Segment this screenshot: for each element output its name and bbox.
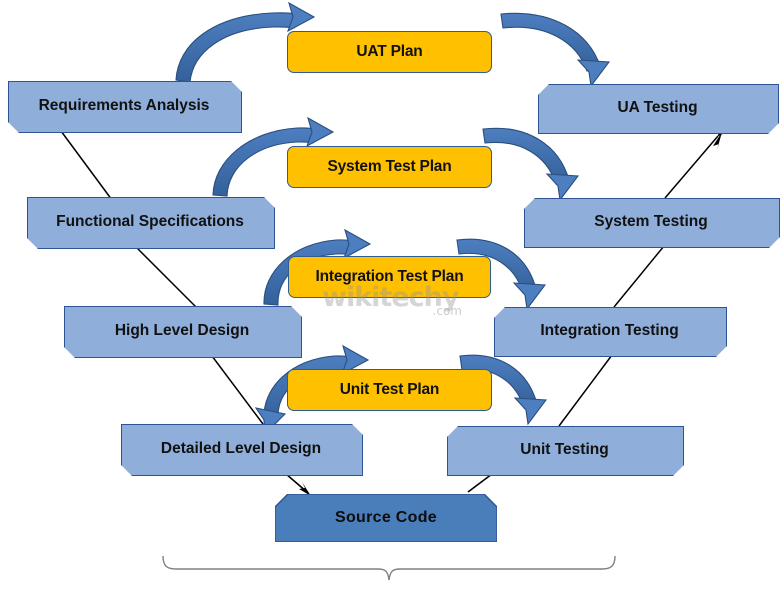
- unit-test-plan-label: Unit Test Plan: [340, 382, 439, 398]
- source-code-box[interactable]: Source Code: [275, 494, 497, 542]
- integration-testing-label: Integration Testing: [494, 307, 725, 355]
- connector-func-to-hld: [136, 247, 198, 309]
- connector-hld-to-dld: [212, 356, 263, 424]
- source-code-label: Source Code: [275, 494, 497, 542]
- connector-req-to-func: [61, 131, 112, 200]
- phase-detailed-level-design[interactable]: Detailed Level Design: [121, 424, 361, 474]
- system-testing-label: System Testing: [524, 198, 778, 246]
- uat-plan-label: UAT Plan: [356, 44, 422, 60]
- v-model-diagram: Requirements Analysis Functional Specifi…: [0, 0, 782, 589]
- phase-high-level-design[interactable]: High Level Design: [64, 306, 300, 356]
- unit-testing-label: Unit Testing: [447, 426, 682, 474]
- watermark-sub-text: .com: [433, 304, 462, 318]
- connector-unit-to-integ: [559, 355, 612, 426]
- left-arm-connectors: [61, 131, 263, 424]
- phase-requirements-analysis[interactable]: Requirements Analysis: [8, 81, 240, 131]
- connector-dld-to-source: [286, 474, 311, 496]
- phase-ua-testing[interactable]: UA Testing: [538, 84, 777, 132]
- test-plan-unit[interactable]: Unit Test Plan: [287, 369, 492, 411]
- test-plan-integration[interactable]: Integration Test Plan: [288, 256, 491, 298]
- phase-unit-testing[interactable]: Unit Testing: [447, 426, 682, 474]
- integration-test-plan-label: Integration Test Plan: [316, 269, 464, 285]
- arrowhead-to-ua-testing: [713, 132, 722, 150]
- arrow-uat-plan-to-ua-testing: [501, 13, 609, 86]
- detailed-level-design-label: Detailed Level Design: [121, 424, 361, 474]
- high-level-design-label: High Level Design: [64, 306, 300, 356]
- ua-testing-label: UA Testing: [538, 84, 777, 132]
- phase-functional-specifications[interactable]: Functional Specifications: [27, 197, 273, 247]
- phase-integration-testing[interactable]: Integration Testing: [494, 307, 725, 355]
- connector-sys-to-ua: [665, 136, 718, 198]
- phase-system-testing[interactable]: System Testing: [524, 198, 778, 246]
- test-plan-system[interactable]: System Test Plan: [287, 146, 492, 188]
- arrow-system-test-plan-to-system-testing: [483, 128, 578, 200]
- test-plan-uat[interactable]: UAT Plan: [287, 31, 492, 73]
- right-arm-connectors: [545, 136, 718, 474]
- bottom-brace: [163, 556, 615, 580]
- connector-source-to-unit: [468, 474, 492, 492]
- system-test-plan-label: System Test Plan: [327, 159, 451, 175]
- functional-specifications-label: Functional Specifications: [27, 197, 273, 247]
- connector-integ-to-sys: [614, 246, 664, 307]
- requirements-analysis-label: Requirements Analysis: [8, 81, 240, 131]
